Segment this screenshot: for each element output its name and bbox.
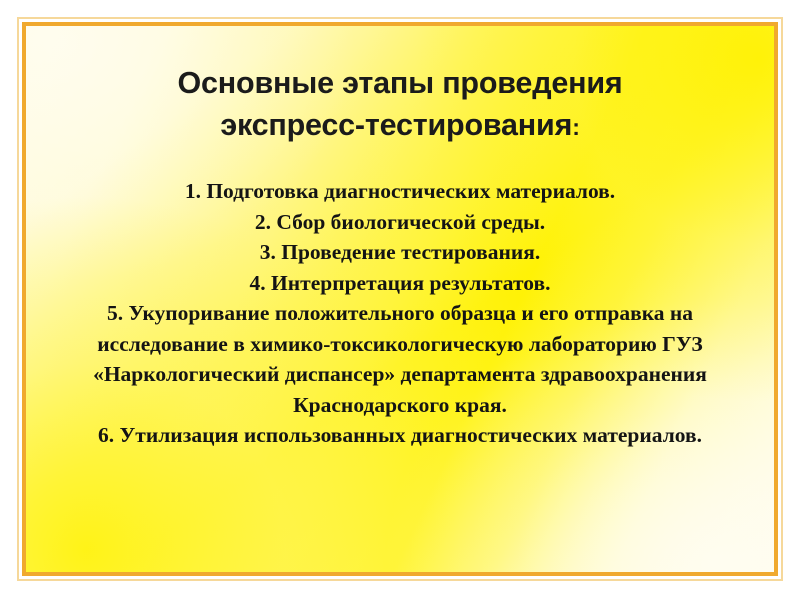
slide-content: Основные этапы проведения экспресс-тести… [26,26,774,572]
list-item: 5. Укупоривание положительного образца и… [40,298,760,420]
list-item: 3. Проведение тестирования. [40,237,760,268]
slide-title-line-1: Основные этапы проведения [52,62,748,104]
slide-canvas: Основные этапы проведения экспресс-тести… [26,26,774,572]
list-item: 2. Сбор биологической среды. [40,207,760,238]
slide-title: Основные этапы проведения экспресс-тести… [26,62,774,148]
slide-title-colon: : [572,114,579,140]
slide-title-line-2-wrapper: экспресс-тестирования: [52,104,748,148]
list-item: 4. Интерпретация результатов. [40,268,760,299]
slide-root: Основные этапы проведения экспресс-тести… [0,0,800,600]
list-item: 1. Подготовка диагностических материалов… [40,176,760,207]
slide-steps-list: 1. Подготовка диагностических материалов… [26,176,774,451]
slide-title-line-2: экспресс-тестирования [220,108,572,142]
list-item: 6. Утилизация использованных диагностиче… [40,420,760,451]
